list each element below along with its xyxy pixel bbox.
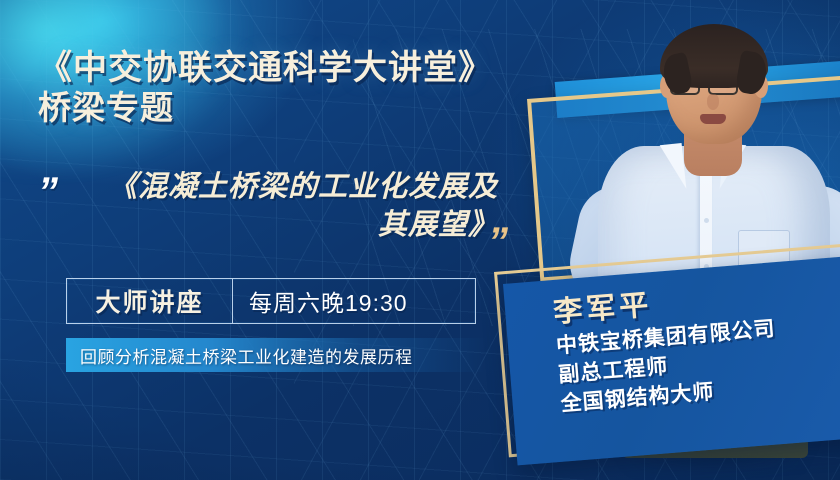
lecture-label-cell: 大师讲座 xyxy=(67,279,233,323)
description-bar: 回顾分析混凝土桥梁工业化建造的发展历程 xyxy=(66,338,486,372)
quote-open-icon: ” xyxy=(38,172,54,212)
lecture-poster: 《中交协联交通科学大讲堂》 桥梁专题 ” 《混凝土桥梁的工业化发展及其展望》 ”… xyxy=(0,0,840,480)
title-line-2: 桥梁专题 xyxy=(38,88,558,128)
poster-title: 《中交协联交通科学大讲堂》 桥梁专题 xyxy=(38,48,558,128)
speaker-info-panel: 李军平 中铁宝桥集团有限公司 副总工程师 全国钢结构大师 xyxy=(503,256,840,466)
portrait-button xyxy=(704,218,709,223)
description-text: 回顾分析混凝土桥梁工业化建造的发展历程 xyxy=(80,343,413,368)
title-line-1: 《中交协联交通科学大讲堂》 xyxy=(38,48,558,88)
portrait-hair xyxy=(660,24,768,88)
lecture-schedule-cell: 每周六晚19:30 xyxy=(233,279,475,323)
lecture-schedule: 每周六晚19:30 xyxy=(249,284,408,318)
lecture-label: 大师讲座 xyxy=(95,283,203,319)
portrait-collar-left xyxy=(660,143,687,191)
subtitle-text: 《混凝土桥梁的工业化发展及其展望》 xyxy=(38,168,558,244)
portrait-nose xyxy=(707,94,719,110)
portrait-mouth xyxy=(700,114,726,124)
quote-close-icon: ” xyxy=(488,222,504,262)
lecture-info-box: 大师讲座 每周六晚19:30 xyxy=(66,278,476,324)
poster-subtitle: ” 《混凝土桥梁的工业化发展及其展望》 ” xyxy=(38,168,558,244)
